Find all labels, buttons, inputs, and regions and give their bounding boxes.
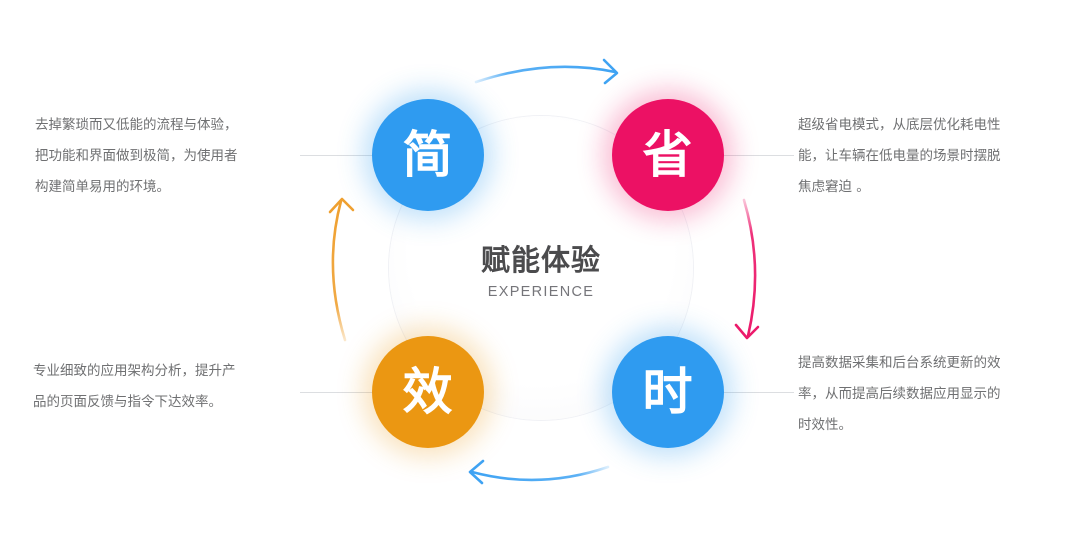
node-jian[interactable]: 简 [372,99,484,211]
node-xiao-label: 效 [403,367,454,417]
node-shi-label: 时 [643,367,694,417]
connector-line-bottom-right [722,392,794,393]
description-jian: 去掉繁琐而又低能的流程与体验， 把功能和界面做到极简，为使用者 构建简单易用的环… [35,110,297,203]
description-sheng: 超级省电模式，从底层优化耗电性 能，让车辆在低电量的场景时摆脱 焦虑窘迫 。 [798,110,1060,203]
diagram-canvas: 简 省 效 时 赋能体验 EXPERIENCE 去掉繁琐而又低能的流程与体验， … [0,0,1082,548]
description-shi: 提高数据采集和后台系统更新的效 率，从而提高后续数据应用显示的 时效性。 [798,348,1060,441]
connector-line-top-right [722,155,794,156]
connector-line-top-left [300,155,378,156]
node-jian-label: 简 [403,130,454,180]
center-subtitle: EXPERIENCE [389,284,693,300]
arrow-top [476,60,617,83]
arrow-right [736,200,758,338]
node-sheng-label: 省 [643,130,694,180]
node-shi[interactable]: 时 [612,336,724,448]
node-sheng[interactable]: 省 [612,99,724,211]
node-xiao[interactable]: 效 [372,336,484,448]
arrow-left [330,199,353,340]
arrow-bottom [470,461,608,483]
center-title: 赋能体验 [389,243,693,278]
connector-line-bottom-left [300,392,378,393]
description-xiao: 专业细致的应用架构分析，提升产 品的页面反馈与指令下达效率。 [33,356,297,418]
center-label-group: 赋能体验 EXPERIENCE [389,243,693,300]
